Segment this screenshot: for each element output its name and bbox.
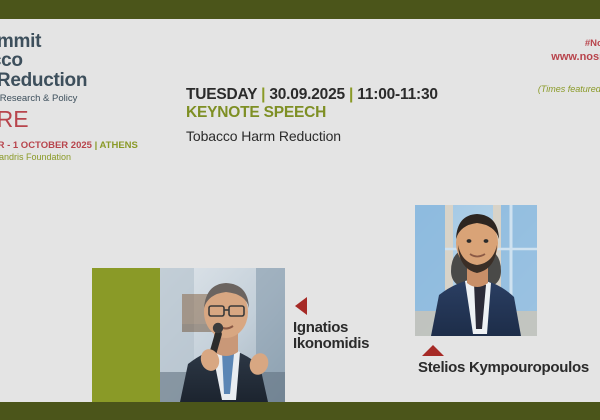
triangle-left-pointer-icon [295,297,307,315]
event-title-line-3: arm Reduction [0,71,188,90]
speaker-name-stelios-kympouropoulos: Stelios Kympouropoulos [418,360,598,376]
speaker-photo-ignatios-ikonomidis [160,268,285,402]
event-subtitle: products, Research & Policy [0,93,188,104]
event-date-range: PTEMBER - 1 OCTOBER 2025 [0,140,92,151]
schedule-separator-1: | [261,86,265,103]
event-website-url[interactable]: www.nosmokes [551,51,600,63]
event-city: ATHENS [100,140,138,151]
bottom-accent-bar [0,402,600,420]
social-block: #NoSmoke www.nosmokes [551,38,600,63]
event-title-line-2: obacco [0,51,188,70]
event-date-line: PTEMBER - 1 OCTOBER 2025 | ATHENS [0,140,188,151]
speaker-name-line-2: Ikonomidis [293,336,423,352]
speaker-photo-stelios-kympouropoulos [415,205,537,336]
event-title-line-1: c Summit [0,32,188,51]
speaker-name-line-1: Ignatios [293,320,423,336]
speaker-name-ignatios-ikonomidis: Ignatios Ikonomidis [293,320,423,352]
session-day: TUESDAY [186,86,257,103]
triangle-up-pointer-icon [422,345,444,356]
schedule-separator-2: | [349,86,353,103]
session-schedule: TUESDAY | 30.09.2025 | 11:00-11:30 [186,86,506,103]
event-hashtag: #NoSmoke [551,38,600,49]
event-venue: Elise Goulandris Foundation [0,152,188,162]
session-time: 11:00-11:30 [357,86,438,103]
session-date: 30.09.2025 [269,86,345,103]
speaker-photo-left-illustration [160,268,285,402]
event-branding: c Summit obacco arm Reduction products, … [0,32,188,162]
session-details: TUESDAY | 30.09.2025 | 11:00-11:30 KEYNO… [186,86,506,144]
speaker-name-line-1: Stelios Kympouropoulos [418,360,598,376]
timezone-note: (Times featured are in A [538,84,600,94]
date-separator: | [95,140,98,151]
logo-wordmark: HRE [0,106,29,132]
organization-logo: HRE [0,108,188,131]
top-accent-bar [0,0,600,19]
speaker-photo-right-illustration [415,205,537,336]
session-type: KEYNOTE SPEECH [186,104,506,121]
presentation-slide: c Summit obacco arm Reduction products, … [0,0,600,420]
session-title: Tobacco Harm Reduction [186,128,506,144]
